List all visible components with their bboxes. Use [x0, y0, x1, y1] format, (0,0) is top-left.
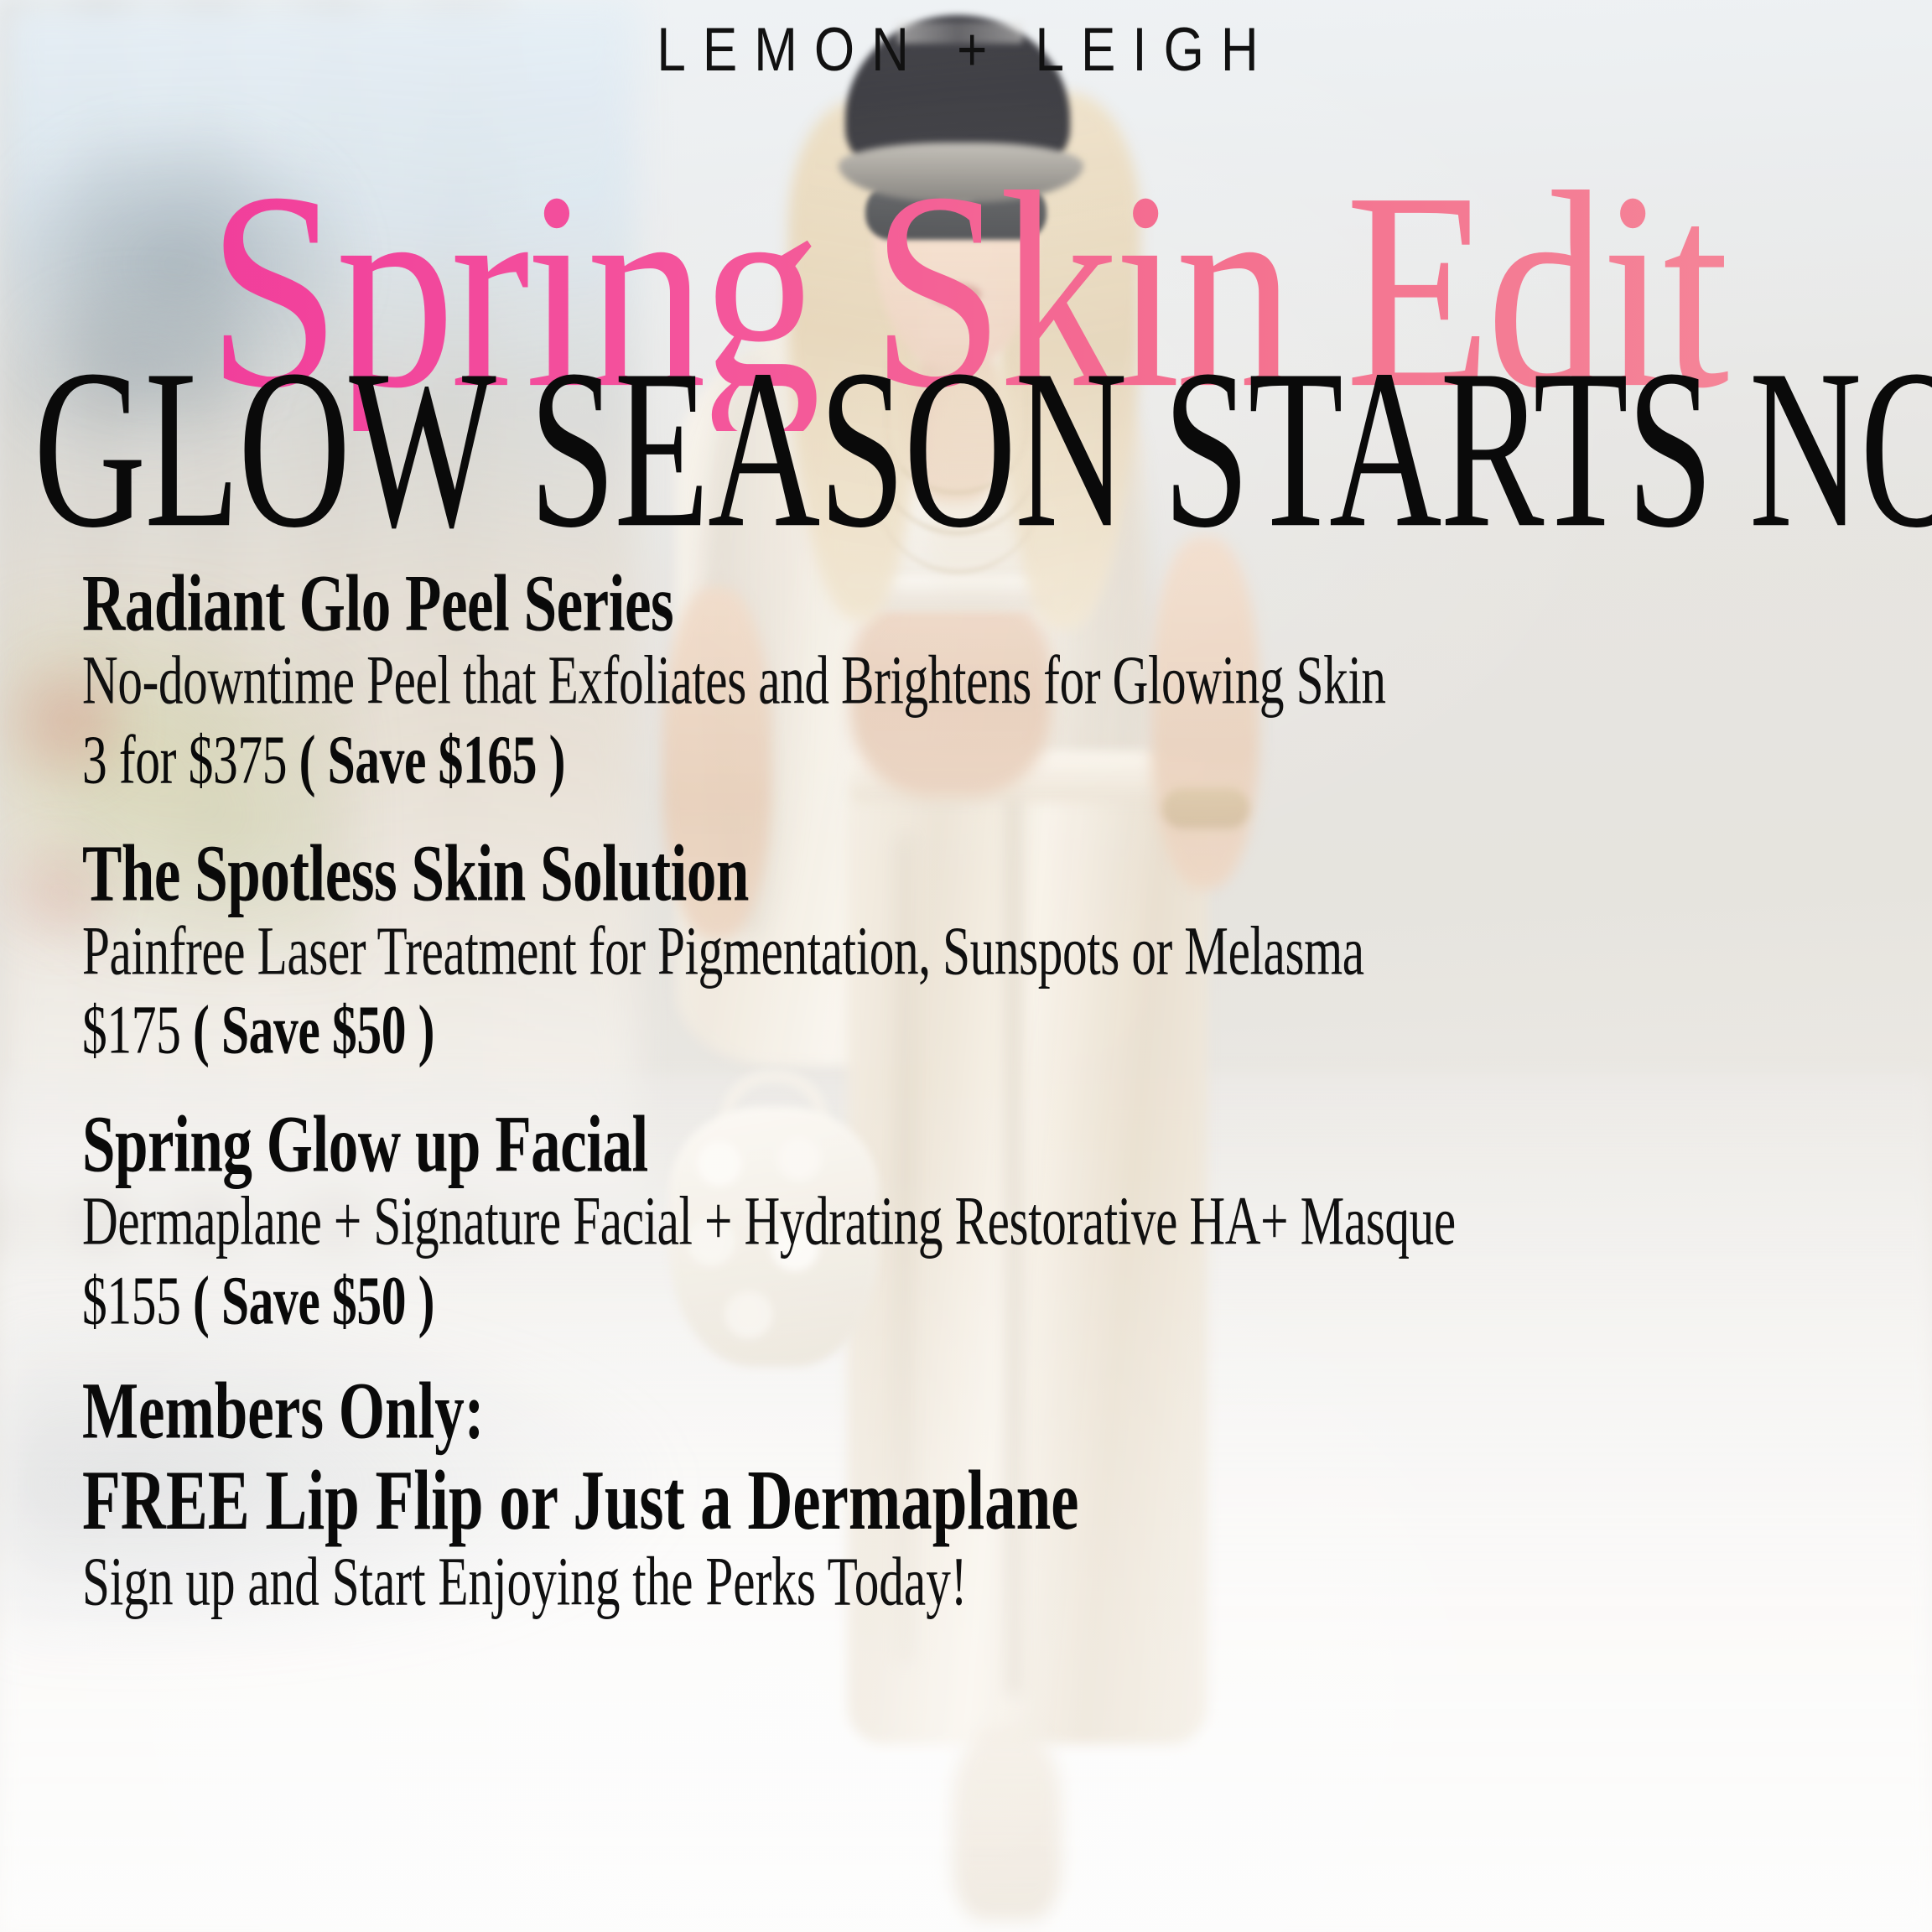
page-title: GLOW SEASON STARTS NOW: [34, 335, 1910, 563]
poster-content: LEMON + LEIGH Spring Skin Edit GLOW SEAS…: [0, 0, 1932, 1932]
offer-item: Radiant Glo Peel Series No-downtime Peel…: [82, 563, 1898, 778]
offer-description: No-downtime Peel that Exfoliates and Bri…: [82, 645, 1817, 717]
offer-price-line: $155 ( Save $50 ): [82, 1265, 1826, 1337]
offer-savings: ( Save $50 ): [193, 1263, 434, 1339]
offer-name: Spring Glow up Facial: [82, 1104, 1826, 1187]
members-label: Members Only:: [82, 1371, 1826, 1453]
promo-poster: LEMON + LEIGH Spring Skin Edit GLOW SEAS…: [0, 0, 1932, 1932]
offer-name: Radiant Glo Peel Series: [82, 563, 1826, 646]
offer-description: Painfree Laser Treatment for Pigmentatio…: [82, 916, 1817, 988]
offer-item: Spring Glow up Facial Dermaplane + Signa…: [82, 1104, 1898, 1319]
offer-price-line: $175 ( Save $50 ): [82, 995, 1826, 1067]
offer-price: $175: [82, 993, 193, 1069]
offer-savings: ( Save $50 ): [193, 993, 434, 1069]
offer-item: The Spotless Skin Solution Painfree Lase…: [82, 834, 1898, 1048]
brand-logo: LEMON + LEIGH: [0, 15, 1932, 86]
offer-price-line: 3 for $375 ( Save $165 ): [82, 724, 1826, 797]
members-cta: Sign up and Start Enjoying the Perks Tod…: [82, 1546, 1817, 1618]
members-offer: FREE Lip Flip or Just a Dermaplane: [82, 1457, 1826, 1543]
offer-price: $155: [82, 1263, 193, 1339]
offer-savings: ( Save $165 ): [299, 722, 565, 798]
members-section: Members Only: FREE Lip Flip or Just a De…: [82, 1371, 1898, 1600]
offer-name: The Spotless Skin Solution: [82, 834, 1826, 916]
offer-price: 3 for $375: [82, 722, 299, 798]
offer-description: Dermaplane + Signature Facial + Hydratin…: [82, 1186, 1817, 1258]
offer-list: Radiant Glo Peel Series No-downtime Peel…: [82, 563, 1898, 1601]
